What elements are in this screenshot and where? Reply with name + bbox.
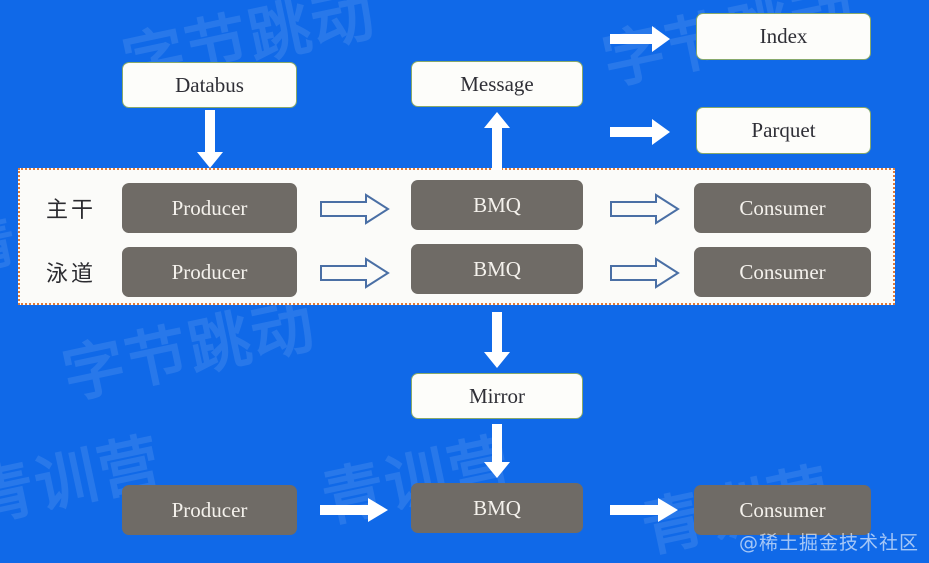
node-parquet-label: Parquet: [751, 120, 815, 141]
node-consumer-bottom-label: Consumer: [739, 500, 825, 521]
node-producer-bottom-label: Producer: [172, 500, 248, 521]
arrow-producer-to-bmq-bottom-icon: [320, 497, 390, 523]
node-index[interactable]: Index: [696, 13, 871, 60]
node-producer-main-label: Producer: [172, 198, 248, 219]
arrow-message-to-index-icon: [610, 25, 672, 53]
node-index-label: Index: [760, 26, 808, 47]
node-consumer-main-label: Consumer: [739, 198, 825, 219]
node-bmq-bottom[interactable]: BMQ: [411, 483, 583, 533]
arrow-mirror-to-bmq-bottom-icon: [482, 424, 512, 480]
node-consumer-bottom[interactable]: Consumer: [694, 485, 871, 535]
node-bmq-main[interactable]: BMQ: [411, 180, 583, 230]
arrow-databus-to-producer-icon: [195, 110, 225, 170]
lane-label-main: 主干: [46, 190, 124, 226]
node-databus[interactable]: Databus: [122, 62, 297, 108]
node-consumer-lane[interactable]: Consumer: [694, 247, 871, 297]
arrow-message-to-parquet-icon: [610, 118, 672, 146]
arrow-producer-to-bmq-main-icon: [320, 193, 390, 225]
lane-label-swimlane: 泳道: [46, 254, 124, 290]
node-consumer-main[interactable]: Consumer: [694, 183, 871, 233]
arrow-bmq-to-mirror-icon: [482, 312, 512, 370]
node-bmq-main-label: BMQ: [473, 195, 521, 216]
node-databus-label: Databus: [175, 75, 244, 96]
node-parquet[interactable]: Parquet: [696, 107, 871, 154]
arrow-bmq-to-consumer-lane-icon: [610, 257, 680, 289]
node-mirror-label: Mirror: [469, 386, 525, 407]
node-producer-lane-label: Producer: [172, 262, 248, 283]
node-producer-lane[interactable]: Producer: [122, 247, 297, 297]
node-producer-bottom[interactable]: Producer: [122, 485, 297, 535]
node-bmq-bottom-label: BMQ: [473, 498, 521, 519]
node-message[interactable]: Message: [411, 61, 583, 107]
diagram-canvas: 字节跳动 字节跳动 字节跳动 青训营 青训营 青训营 青训营 Databus M…: [0, 0, 929, 563]
node-consumer-lane-label: Consumer: [739, 262, 825, 283]
arrow-producer-to-bmq-lane-icon: [320, 257, 390, 289]
arrow-bmq-to-message-icon: [482, 110, 512, 172]
node-producer-main[interactable]: Producer: [122, 183, 297, 233]
lane-label-swimlane-text: 泳道: [46, 256, 96, 288]
arrow-bmq-to-consumer-main-icon: [610, 193, 680, 225]
arrow-bmq-to-consumer-bottom-icon: [610, 497, 680, 523]
node-bmq-lane-label: BMQ: [473, 259, 521, 280]
node-bmq-lane[interactable]: BMQ: [411, 244, 583, 294]
node-mirror[interactable]: Mirror: [411, 373, 583, 419]
lane-label-main-text: 主干: [46, 192, 96, 224]
node-message-label: Message: [460, 74, 533, 95]
